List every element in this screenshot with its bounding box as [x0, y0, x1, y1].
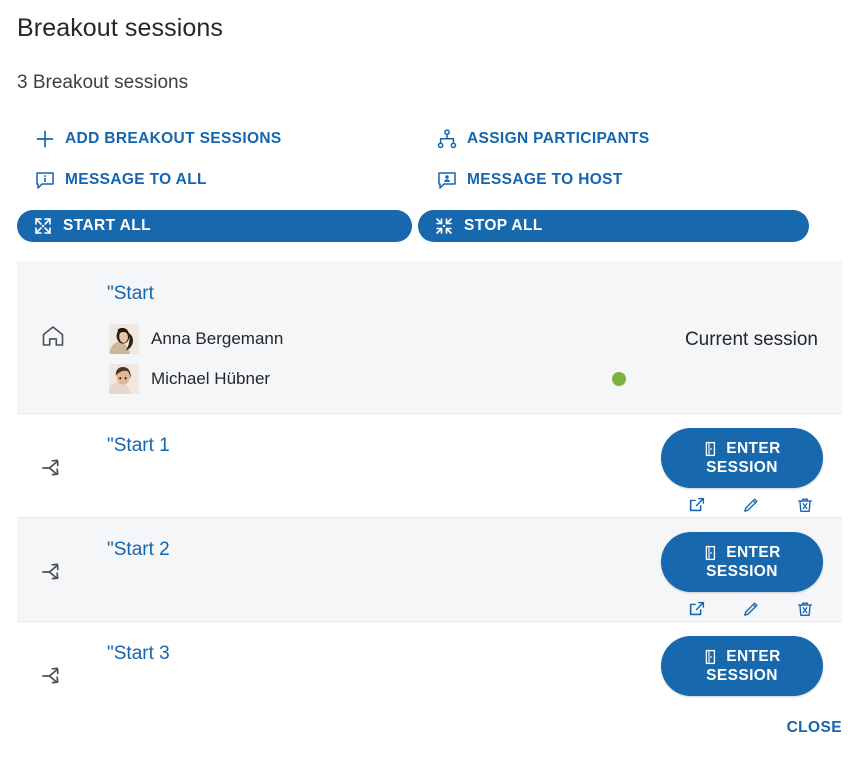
close-button[interactable]: CLOSE: [787, 719, 842, 737]
list-item: Anna Bergemann: [109, 319, 283, 359]
add-breakout-sessions-label: ADD BREAKOUT SESSIONS: [65, 130, 282, 148]
participant-name: Michael Hübner: [151, 369, 270, 389]
participant-name: Anna Bergemann: [151, 329, 283, 349]
start-all-label: START ALL: [63, 217, 151, 235]
pencil-icon[interactable]: [740, 494, 762, 516]
session-count-subtitle: 3 Breakout sessions: [17, 72, 188, 94]
trash-x-icon[interactable]: [794, 598, 816, 620]
door-icon: [703, 649, 719, 665]
enter-session-label-line2: SESSION: [706, 667, 778, 684]
message-to-host-label: MESSAGE TO HOST: [467, 171, 623, 189]
expand-arrows-icon: [33, 216, 53, 236]
external-link-icon[interactable]: [686, 494, 708, 516]
participant-list: Anna Bergemann Mich: [109, 319, 283, 399]
avatar: [109, 324, 139, 354]
breakout-sessions-dialog: Breakout sessions 3 Breakout sessions AD…: [0, 0, 859, 757]
current-session-label: Current session: [685, 329, 818, 351]
enter-session-label-line1: ENTER: [726, 439, 781, 458]
start-all-button[interactable]: START ALL: [17, 210, 412, 242]
message-to-host-button[interactable]: MESSAGE TO HOST: [436, 169, 623, 191]
enter-session-label-line2: SESSION: [706, 459, 778, 476]
assign-participants-button[interactable]: ASSIGN PARTICIPANTS: [436, 128, 650, 150]
branch-icon: [36, 451, 70, 485]
external-link-icon[interactable]: [686, 598, 708, 620]
table-row: "Start 3 ENTER SESSION: [17, 622, 842, 726]
session-name-link[interactable]: "Start: [107, 283, 154, 305]
action-links: ADD BREAKOUT SESSIONS MESSAGE TO ALL: [0, 128, 859, 200]
stop-all-button[interactable]: STOP ALL: [418, 210, 809, 242]
enter-session-button[interactable]: ENTER SESSION: [661, 532, 823, 592]
page-title: Breakout sessions: [17, 14, 223, 43]
session-name-link[interactable]: "Start 3: [107, 643, 170, 665]
chat-info-icon: [34, 169, 56, 191]
message-to-all-label: MESSAGE TO ALL: [65, 171, 207, 189]
breakout-session-list: "Start Anna Bergemann: [17, 261, 842, 726]
row-actions: [686, 494, 816, 516]
session-name-link[interactable]: "Start 1: [107, 435, 170, 457]
status-badge: [612, 372, 626, 386]
plus-icon: [34, 128, 56, 150]
row-actions: [686, 598, 816, 620]
message-to-all-button[interactable]: MESSAGE TO ALL: [34, 169, 207, 191]
avatar: [109, 364, 139, 394]
table-row: "Start 2 ENTER SESSION: [17, 518, 842, 622]
home-icon: [36, 319, 70, 353]
add-breakout-sessions-button[interactable]: ADD BREAKOUT SESSIONS: [34, 128, 282, 150]
chat-person-icon: [436, 169, 458, 191]
stop-all-label: STOP ALL: [464, 217, 543, 235]
branch-icon: [36, 659, 70, 693]
table-row: "Start Anna Bergemann: [17, 261, 842, 414]
enter-session-label-line2: SESSION: [706, 563, 778, 580]
collapse-arrows-icon: [434, 216, 454, 236]
trash-x-icon[interactable]: [794, 494, 816, 516]
door-icon: [703, 441, 719, 457]
enter-session-button[interactable]: ENTER SESSION: [661, 636, 823, 696]
table-row: "Start 1 ENTER SESSION: [17, 414, 842, 518]
enter-session-button[interactable]: ENTER SESSION: [661, 428, 823, 488]
door-icon: [703, 545, 719, 561]
branch-icon: [36, 555, 70, 589]
enter-session-label-line1: ENTER: [726, 543, 781, 562]
list-item: Michael Hübner: [109, 359, 283, 399]
assign-participants-label: ASSIGN PARTICIPANTS: [467, 130, 650, 148]
sitemap-icon: [436, 128, 458, 150]
session-name-link[interactable]: "Start 2: [107, 539, 170, 561]
pencil-icon[interactable]: [740, 598, 762, 620]
enter-session-label-line1: ENTER: [726, 647, 781, 666]
